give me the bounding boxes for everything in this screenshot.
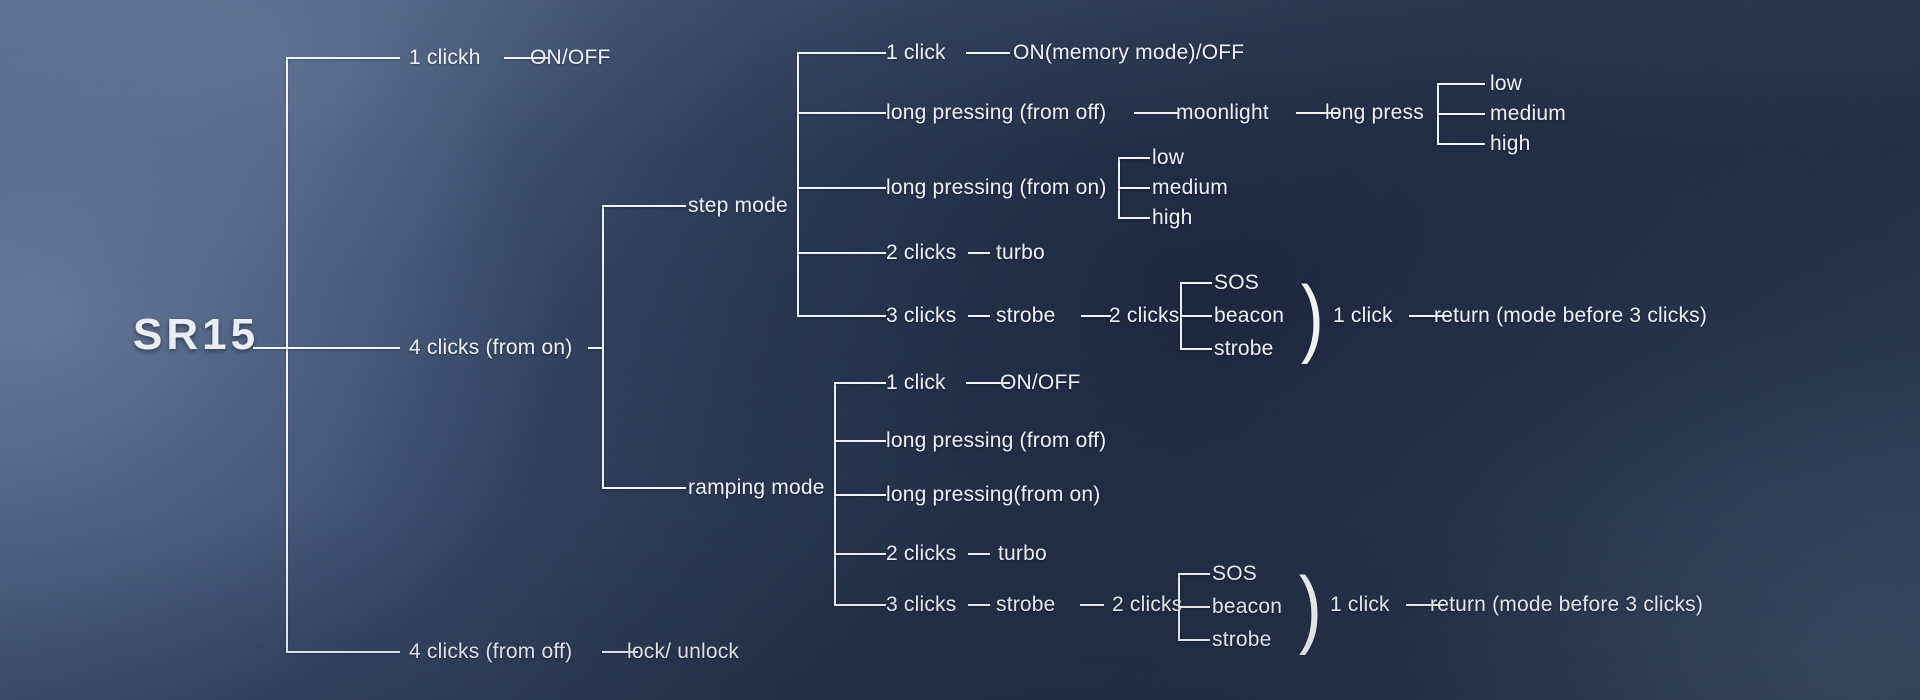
step-strobe-option-beacon: beacon <box>1214 305 1284 326</box>
ramping-mode-connector <box>602 487 686 489</box>
step-strobe-exit-label: 1 click <box>1333 305 1393 326</box>
step-three-clicks-dash1 <box>968 315 990 317</box>
step-long-from-off-label: long pressing (from off) <box>886 102 1106 123</box>
ramping-mode-label: ramping mode <box>688 477 825 498</box>
ramping-strobe-option-2-connector <box>1178 639 1210 641</box>
step-long-from-on-connector <box>797 187 886 189</box>
ramping-two-clicks-connector <box>834 553 886 555</box>
step-two-clicks-dash <box>968 252 990 254</box>
ramping-strobe-option-1-connector <box>1178 606 1210 608</box>
step-strobe-group-brace: ) <box>1301 274 1324 360</box>
ramping-strobe-group-brace: ) <box>1299 565 1322 651</box>
step-moonlight-label: moonlight <box>1176 102 1269 123</box>
step-onlevel-high: high <box>1152 207 1193 228</box>
branch-bottom-connector <box>286 651 400 653</box>
ramping-one-click-result: ON/OFF <box>1000 372 1081 393</box>
step-strobe-option-1-connector <box>1180 315 1212 317</box>
ramping-strobe-option-beacon: beacon <box>1212 596 1282 617</box>
branch-top-label: 1 clickh <box>409 47 481 68</box>
ramping-two-clicks-dash <box>968 553 990 555</box>
ramping-three-clicks-dash2 <box>1080 604 1104 606</box>
ramping-three-clicks-label: 3 clicks <box>886 594 956 615</box>
branch-top-connector <box>286 57 400 59</box>
ramping-long-from-on-connector <box>834 494 886 496</box>
branch-top-result: ON/OFF <box>530 47 611 68</box>
step-strobe-option-0-connector <box>1180 282 1212 284</box>
step-mode-spine <box>797 52 799 315</box>
step-mode-label: step mode <box>688 195 788 216</box>
step-three-clicks-connector <box>797 315 886 317</box>
step-two-clicks-label: 2 clicks <box>886 242 956 263</box>
step-strobe-option-strobe: strobe <box>1214 338 1274 359</box>
ramping-one-click-connector <box>834 382 886 384</box>
ramping-two-clicks-result: turbo <box>998 543 1047 564</box>
step-strobe-option-2-connector <box>1180 348 1212 350</box>
ramping-three-clicks-connector <box>834 604 886 606</box>
ramping-long-from-off-label: long pressing (from off) <box>886 430 1106 451</box>
step-moonlight-dash <box>1134 112 1178 114</box>
step-long-from-off-connector <box>797 112 886 114</box>
step-long-from-on-label: long pressing (from on) <box>886 177 1107 198</box>
step-one-click-result: ON(memory mode)/OFF <box>1013 42 1244 63</box>
ramping-one-click-label: 1 click <box>886 372 946 393</box>
ramping-long-from-on-label: long pressing(from on) <box>886 484 1101 505</box>
step-moonlight-level-1-connector <box>1437 113 1485 115</box>
step-onlevel-low: low <box>1152 147 1184 168</box>
ramping-strobe-exit-label: 1 click <box>1330 594 1390 615</box>
root-stub <box>253 347 287 349</box>
step-onlevel-2-connector <box>1118 217 1150 219</box>
ramping-strobe-option-0-connector <box>1178 573 1210 575</box>
ramping-two-clicks-label: 2 clicks <box>886 543 956 564</box>
branch-middle-label: 4 clicks (from on) <box>409 337 572 358</box>
branch-bottom-label: 4 clicks (from off) <box>409 641 572 662</box>
ramping-three-clicks-next: 2 clicks <box>1112 594 1182 615</box>
step-moonlight-level-medium: medium <box>1490 103 1566 124</box>
step-three-clicks-next: 2 clicks <box>1109 305 1179 326</box>
step-onlevel-1-connector <box>1118 187 1150 189</box>
step-three-clicks-label: 3 clicks <box>886 305 956 326</box>
ramping-mode-spine <box>834 382 836 604</box>
branch-middle-connector <box>286 347 400 349</box>
step-moonlight-level-2-connector <box>1437 143 1485 145</box>
step-moonlight-level-low: low <box>1490 73 1522 94</box>
step-mode-connector <box>602 205 686 207</box>
ramping-three-clicks-result: strobe <box>996 594 1056 615</box>
step-strobe-exit-result: return (mode before 3 clicks) <box>1434 305 1707 326</box>
step-onlevel-medium: medium <box>1152 177 1228 198</box>
step-moonlight-level-high: high <box>1490 133 1531 154</box>
root-spine <box>286 57 288 653</box>
root-node-label: SR15 <box>133 313 259 357</box>
step-one-click-label: 1 click <box>886 42 946 63</box>
step-strobe-option-sos: SOS <box>1214 272 1259 293</box>
ramping-strobe-exit-result: return (mode before 3 clicks) <box>1430 594 1703 615</box>
step-two-clicks-connector <box>797 252 886 254</box>
ramping-long-from-off-connector <box>834 440 886 442</box>
step-two-clicks-result: turbo <box>996 242 1045 263</box>
step-one-click-connector <box>797 52 886 54</box>
ramping-strobe-option-sos: SOS <box>1212 563 1257 584</box>
ramping-strobe-option-strobe: strobe <box>1212 629 1272 650</box>
branch-bottom-result: lock/ unlock <box>627 641 739 662</box>
mode-spine <box>602 205 604 489</box>
step-one-click-dash <box>966 52 1010 54</box>
ramping-three-clicks-dash1 <box>968 604 990 606</box>
step-onlevel-0-connector <box>1118 157 1150 159</box>
step-three-clicks-result: strobe <box>996 305 1056 326</box>
step-long-press-label: long press <box>1325 102 1424 123</box>
diagram-canvas: SR15 1 clickh ON/OFF 4 clicks (from on) … <box>0 0 1920 700</box>
step-three-clicks-dash2 <box>1081 315 1111 317</box>
step-moonlight-level-0-connector <box>1437 83 1485 85</box>
